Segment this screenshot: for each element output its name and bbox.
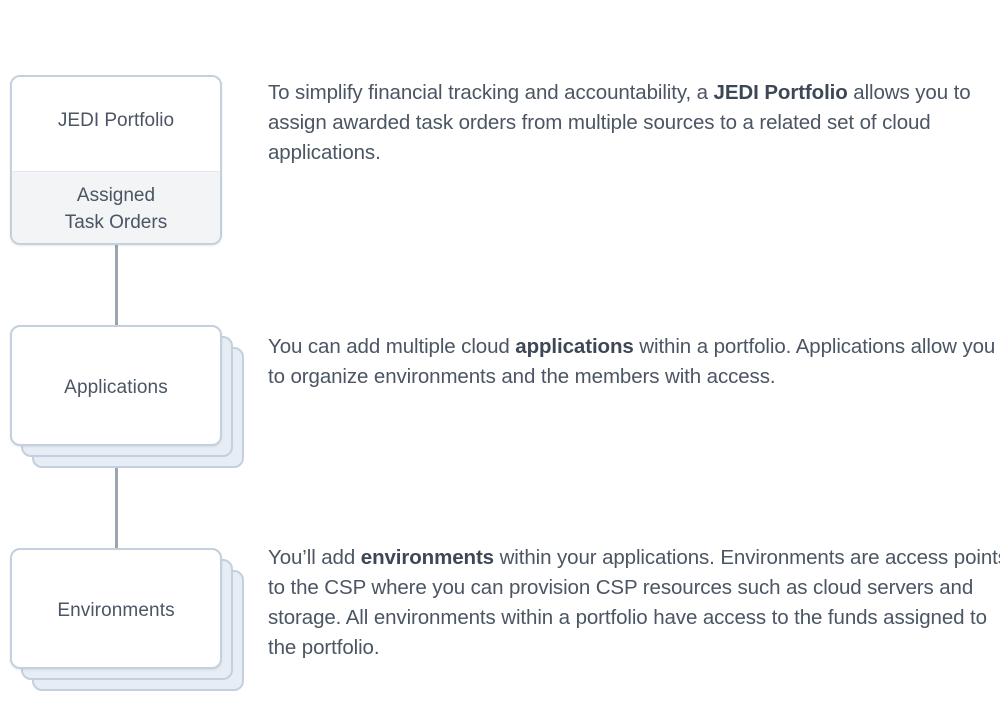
portfolio-description-text: To simplify financial tracking and accou… bbox=[268, 78, 1000, 168]
diagram-canvas: JEDI Portfolio Assigned Task Orders Appl… bbox=[0, 0, 1000, 707]
connector-applications-to-environments bbox=[115, 468, 118, 551]
portfolio-card-subtitle-line-2: Task Orders bbox=[12, 209, 220, 236]
connector-portfolio-to-applications bbox=[115, 245, 118, 330]
environments-description-text: You’ll add environments within your appl… bbox=[268, 543, 1000, 663]
applications-description-text: You can add multiple cloud applications … bbox=[268, 332, 1000, 392]
environments-card-title: Environments bbox=[12, 600, 220, 622]
node-card-stack-applications: Applications bbox=[10, 325, 250, 475]
portfolio-card-subtitle-line-1: Assigned bbox=[12, 182, 220, 209]
node-card-portfolio: JEDI Portfolio Assigned Task Orders bbox=[10, 75, 222, 245]
applications-stack-card-front: Applications bbox=[10, 325, 222, 446]
portfolio-card-subtitle: Assigned Task Orders bbox=[12, 182, 220, 236]
applications-card-title: Applications bbox=[12, 377, 220, 399]
node-card-stack-environments: Environments bbox=[10, 548, 250, 700]
portfolio-card-title: JEDI Portfolio bbox=[12, 110, 220, 132]
environments-stack-card-front: Environments bbox=[10, 548, 222, 669]
